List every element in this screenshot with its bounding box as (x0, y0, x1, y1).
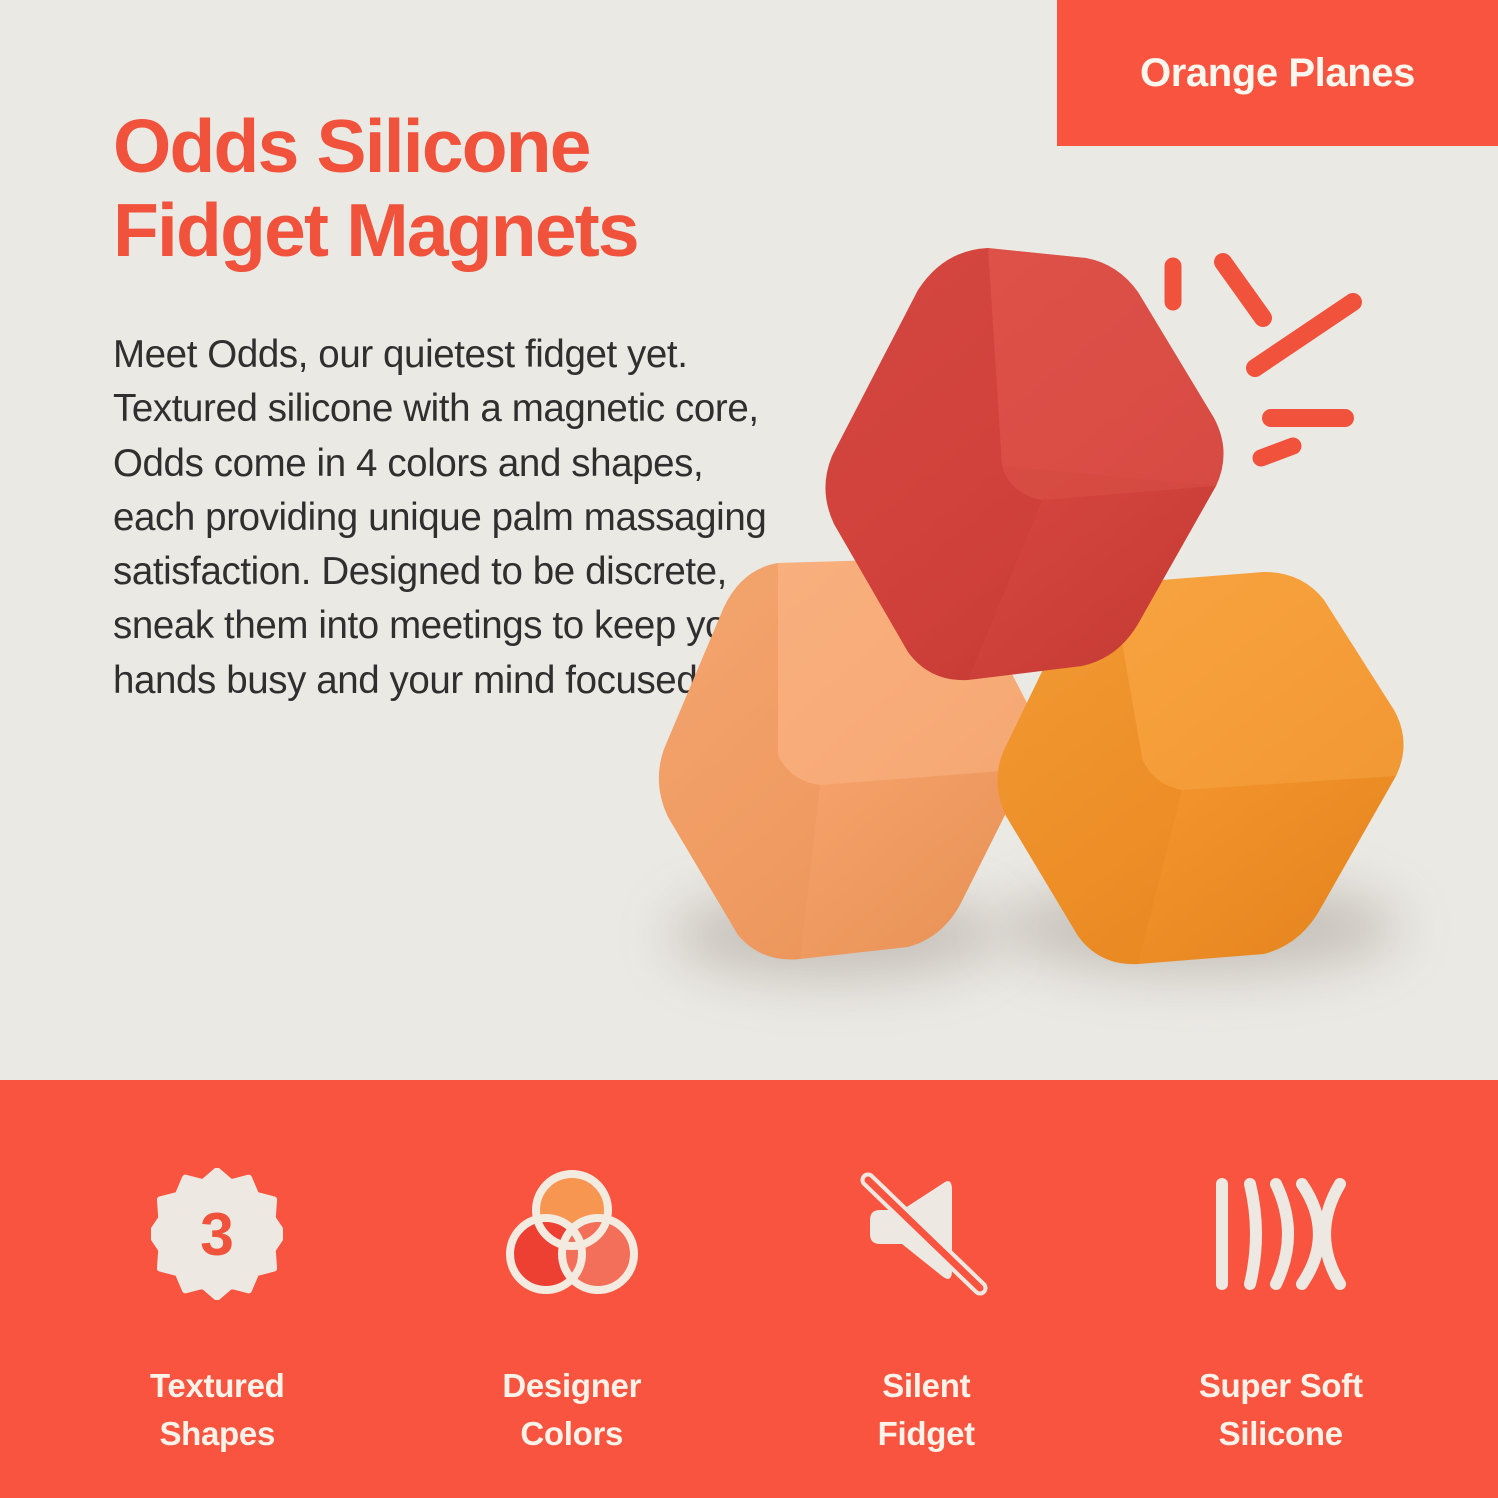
feature-label: Designer Colors (502, 1362, 641, 1458)
brand-name: Orange Planes (1140, 51, 1415, 96)
feature-label-line-2: Colors (502, 1410, 641, 1458)
feature-label: Textured Shapes (150, 1362, 285, 1458)
headline-line-1: Odds Silicone (113, 104, 813, 188)
sparkle-burst-icon (1145, 240, 1395, 470)
feature-label-line-1: Silent (878, 1362, 975, 1410)
feature-designer-colors: Designer Colors (395, 1080, 750, 1498)
product-infographic: Orange Planes Odds Silicone Fidget Magne… (0, 0, 1498, 1498)
feature-label-line-1: Super Soft (1199, 1362, 1363, 1410)
feature-label-line-2: Shapes (150, 1410, 285, 1458)
feature-super-soft-silicone: Super Soft Silicone (1104, 1080, 1459, 1498)
badge-number: 3 (200, 1200, 234, 1268)
soft-waves-icon (1206, 1168, 1356, 1300)
feature-label-line-1: Designer (502, 1362, 641, 1410)
feature-label: Super Soft Silicone (1199, 1362, 1363, 1458)
feature-label-line-2: Fidget (878, 1410, 975, 1458)
feature-label: Silent Fidget (878, 1362, 975, 1458)
feature-label-line-2: Silicone (1199, 1410, 1363, 1458)
brand-badge: Orange Planes (1057, 0, 1498, 146)
feature-label-line-1: Textured (150, 1362, 285, 1410)
feature-textured-shapes: 3 Textured Shapes (40, 1080, 395, 1498)
mute-speaker-icon (856, 1168, 996, 1300)
feature-band: 3 Textured Shapes (0, 1080, 1498, 1498)
venn-circles-icon (502, 1168, 642, 1300)
starburst-badge-icon: 3 (151, 1168, 283, 1300)
feature-silent-fidget: Silent Fidget (749, 1080, 1104, 1498)
product-photo (600, 190, 1480, 1050)
